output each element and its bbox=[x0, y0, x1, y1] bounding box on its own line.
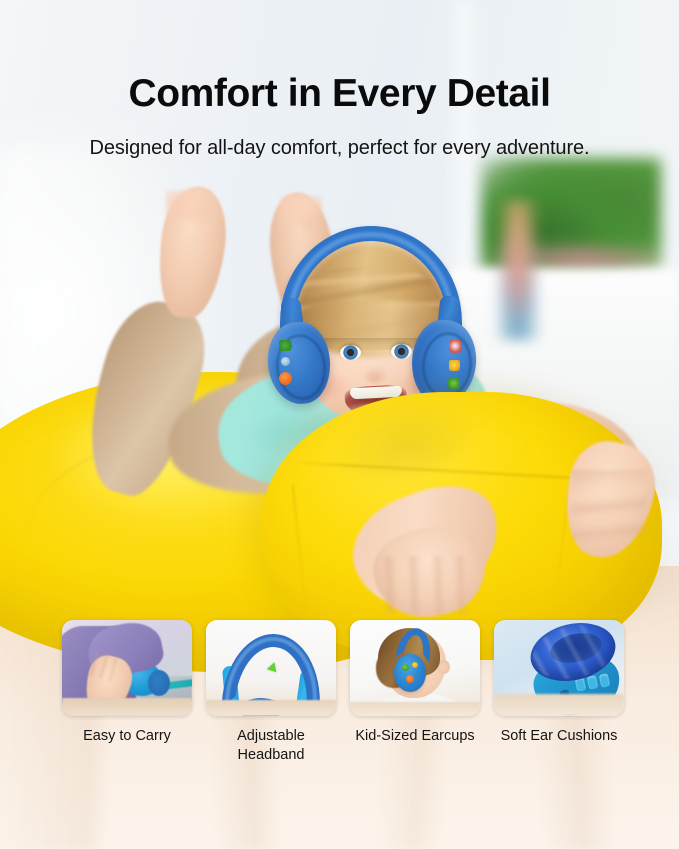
rocket-sticker-icon bbox=[449, 340, 461, 354]
thumb-floor bbox=[350, 702, 480, 716]
thumb-soft-ear-cushions bbox=[494, 620, 624, 716]
child-toes-right bbox=[280, 196, 322, 228]
profile-sticker-orange-icon bbox=[406, 675, 414, 683]
thumb-floor bbox=[494, 694, 624, 716]
child-toes-left bbox=[166, 190, 210, 224]
thumb-kid-sized-earcups bbox=[350, 620, 480, 716]
child-nose bbox=[362, 366, 388, 383]
feature-item: Soft Ear Cushions bbox=[494, 620, 624, 746]
profile-sticker-green-icon bbox=[402, 664, 409, 671]
feature-label: Easy to Carry bbox=[62, 727, 192, 746]
ball-sticker-icon bbox=[281, 357, 290, 366]
feature-label: Adjustable Headband bbox=[206, 727, 336, 765]
child-eye-right bbox=[391, 344, 412, 359]
thumb-floor bbox=[62, 698, 192, 716]
feature-item: Easy to Carry bbox=[62, 620, 192, 746]
page-title: Comfort in Every Detail bbox=[0, 72, 679, 116]
thumb-floor bbox=[206, 700, 336, 716]
feature-label: Kid-Sized Earcups bbox=[350, 727, 480, 746]
feature-label: Soft Ear Cushions bbox=[494, 727, 624, 746]
product-feature-banner: Comfort in Every Detail Designed for all… bbox=[0, 0, 679, 849]
child-fingers-right bbox=[572, 470, 646, 556]
dinosaur-sticker-icon bbox=[279, 340, 292, 351]
profile-earcup bbox=[394, 654, 426, 692]
leaf-sticker-icon bbox=[448, 378, 460, 389]
feature-strip: Easy to Carry Adjustable Headband bbox=[62, 620, 624, 765]
child-fingers-left bbox=[380, 556, 480, 614]
thumb-easy-to-carry bbox=[62, 620, 192, 716]
page-subtitle: Designed for all-day comfort, perfect fo… bbox=[0, 135, 679, 161]
feature-item: Adjustable Headband bbox=[206, 620, 336, 765]
feature-item: Kid-Sized Earcups bbox=[350, 620, 480, 746]
orange-sticker-icon bbox=[279, 372, 292, 385]
profile-sticker-yellow-icon bbox=[412, 662, 418, 668]
star-sticker-icon bbox=[449, 360, 460, 371]
profile-nose bbox=[438, 660, 450, 674]
headphones-in-bag-secondary bbox=[148, 670, 170, 696]
thumb-adjustable-headband bbox=[206, 620, 336, 716]
child-eye-left bbox=[340, 345, 361, 360]
